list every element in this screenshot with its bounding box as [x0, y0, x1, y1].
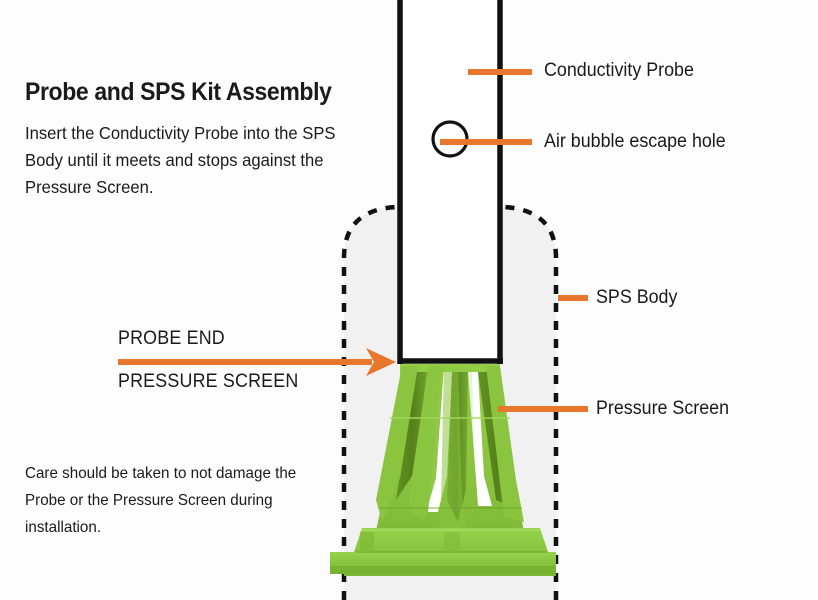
- label-pressure-screen: Pressure Screen: [596, 398, 729, 420]
- label-sps-body: SPS Body: [596, 287, 677, 309]
- label-probe-end: PROBE END: [118, 328, 225, 350]
- screen-flange-base: [330, 528, 556, 576]
- caution-paragraph: Care should be taken to not damage the P…: [25, 460, 310, 541]
- conductivity-probe-tube: [397, 0, 503, 364]
- page-title: Probe and SPS Kit Assembly: [25, 78, 332, 107]
- label-conductivity-probe: Conductivity Probe: [544, 60, 694, 82]
- diagram-canvas: Probe and SPS Kit Assembly Insert the Co…: [0, 0, 818, 600]
- intro-paragraph: Insert the Conductivity Probe into the S…: [25, 120, 377, 201]
- label-probe-end-pressure-screen: PRESSURE SCREEN: [118, 371, 298, 393]
- label-air-bubble-escape-hole: Air bubble escape hole: [544, 131, 726, 153]
